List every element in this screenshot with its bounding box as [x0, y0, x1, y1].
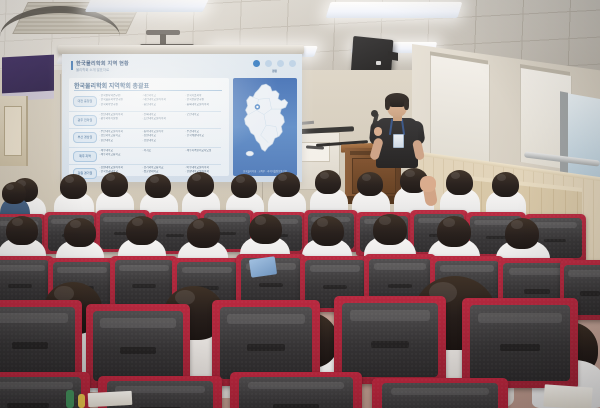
list-item: · 한국해양대학교: [185, 134, 226, 138]
step-label: 전망: [272, 69, 277, 73]
wall-banner: [2, 55, 54, 96]
chair-back-panel: [470, 305, 570, 381]
list-item: · 충남대학교: [142, 103, 183, 107]
audience-head: [249, 214, 282, 244]
row-label-text: 부산 경남권: [74, 135, 96, 139]
row-separator: [69, 128, 221, 129]
row-column: · 전북대학교 · 조선대학교물리학과: [142, 113, 183, 122]
table-row: 제주 지역 · 제주대학교 · 제주과학고등학교 · 서귀포 · 제주지역물리교…: [73, 149, 225, 164]
presenter-hair-side: [404, 99, 409, 110]
chair[interactable]: [372, 378, 508, 408]
slide-heading: 한국물리학회 지역학회 총괄표: [74, 81, 149, 90]
chair-back-panel: [115, 260, 173, 305]
step-dot: 현황: [265, 60, 272, 67]
audience-head: [357, 172, 383, 196]
row-column: · 군산대학교: [185, 113, 226, 117]
chair-back-panel: [382, 383, 499, 408]
chair[interactable]: [462, 298, 578, 388]
audience-head: [437, 216, 471, 247]
pen: [78, 394, 85, 408]
lecture-hall-photo: 한국물리학회 지역 현황 물리학회 소개 발표자료 소개 현황 활동 전망 한국…: [0, 0, 600, 408]
slide-map-panel: 한국물리학회 · 교육부 · 과학기술정보통신부: [233, 78, 297, 176]
microphone-head-icon: [371, 110, 378, 117]
projection-screen: 한국물리학회 지역 현황 물리학회 소개 발표자료 소개 현황 활동 전망 한국…: [62, 54, 302, 182]
pen: [66, 390, 74, 408]
ceiling-light-panel: [85, 0, 210, 12]
wall-seam: [60, 74, 61, 194]
row-column: · 서귀포: [142, 149, 183, 153]
slide-title: 한국물리학회 지역 현황: [76, 60, 129, 67]
table-row: 대전 충청권 · 한국원자력연구원 · 한국표준과학연구원 · 한국화학연구원 …: [73, 94, 225, 109]
row-column: · 대전과학고 · 대전대학교물리학과 · 충남대학교: [142, 94, 183, 107]
list-item: · 광주과학기술원: [99, 117, 140, 121]
slide-title-accent: [71, 61, 73, 70]
row-column: · 동아대학교물리학 · 창원대학교 · 경상대학교: [142, 130, 183, 143]
slide-heading-underline: [74, 90, 222, 91]
row-separator: [69, 111, 221, 112]
handout-booklet: [249, 256, 277, 277]
slide-step-indicator: 소개 현황 활동 전망: [253, 60, 296, 67]
audience-head: [231, 174, 257, 198]
slide-table: 한국물리학회 지역학회 총괄표 대전 충청권 · 한국원자력연구원 · 한국표준…: [69, 78, 229, 176]
row-column: · 전남대학교물리학과 · 광주과학기술원: [99, 113, 140, 122]
audience-head: [126, 216, 158, 245]
audience-head: [492, 172, 519, 197]
audience-head: [505, 218, 539, 249]
slide-title-block: 한국물리학회 지역 현황 물리학회 소개 발표자료: [71, 60, 221, 73]
side-cabinet-panel: [4, 106, 22, 156]
list-item: · 조선대학교물리학과: [142, 117, 183, 121]
chair[interactable]: [334, 296, 446, 384]
audience-head: [101, 172, 128, 197]
chair-back-panel: [93, 311, 182, 382]
audience-head: [187, 218, 220, 248]
notebook: [88, 391, 133, 407]
row-column: · 한국원자력연구원 · 한국표준과학연구원 · 한국화학연구원: [99, 94, 140, 107]
row-separator: [69, 164, 221, 165]
list-item: · 서귀포: [142, 149, 183, 153]
raised-hand-palm: [420, 176, 436, 192]
step-dot: 활동: [277, 60, 284, 67]
chair-back-panel: [0, 260, 49, 305]
chair[interactable]: [0, 372, 90, 408]
row-label: 제주 지역: [73, 151, 97, 162]
step-dot: 소개: [253, 60, 260, 67]
speaker-bracket: [388, 51, 398, 61]
presenter-hair-side: [385, 99, 390, 110]
audience-head: [311, 216, 344, 246]
chair[interactable]: [230, 372, 362, 408]
list-item: · 경상대학교: [142, 139, 183, 143]
row-column: · 제주대학교 · 제주과학고등학교: [99, 149, 140, 158]
row-column: · 부산대학교물리학과 · 경남과학고등학교 · 울산대학교: [99, 130, 140, 143]
row-column: · 제주지역물리교사모임: [185, 149, 226, 153]
chair-back-panel: [220, 307, 313, 379]
audience-head: [6, 216, 38, 245]
row-separator: [69, 147, 221, 148]
list-item: · 한국화학연구원: [99, 103, 140, 107]
row-column: · 한국기초과학 · 한국천문연구원 · 충북대학교물리학과: [185, 94, 226, 107]
list-item: · 군산대학교: [185, 113, 226, 117]
step-dot: 전망: [289, 60, 296, 67]
korea-map-icon: [237, 83, 293, 159]
screen-housing[interactable]: [58, 45, 304, 54]
row-label: 부산 경남권: [73, 132, 97, 143]
chair-back-panel: [0, 307, 75, 376]
row-column: · 부경대학교 · 한국해양대학교: [185, 130, 226, 139]
table-row: 광주 전라권 · 전남대학교물리학과 · 광주과학기술원 · 전북대학교 · 조…: [73, 113, 225, 128]
row-label: 광주 전라권: [73, 115, 97, 126]
row-column: · 경기과학고등학교 · 성균관대학교: [142, 166, 183, 175]
row-label-text: 광주 전라권: [74, 118, 96, 122]
audience-head: [273, 172, 300, 197]
chair-back-panel: [239, 377, 353, 408]
chair[interactable]: [0, 300, 82, 382]
list-item: · 울산대학교: [99, 139, 140, 143]
handout: [543, 384, 592, 408]
id-badge: [393, 134, 404, 148]
row-label-text: 제주 지역: [74, 154, 96, 158]
ceiling-light-panel: [326, 2, 463, 18]
window-blind[interactable]: [430, 55, 490, 163]
audience-head: [315, 170, 341, 194]
slide-subtitle: 물리학회 소개 발표자료: [76, 67, 109, 72]
audience-head: [187, 172, 214, 197]
row-label-text: 대전 충청권: [74, 99, 96, 103]
audience-head: [373, 214, 407, 245]
list-item: · 제주지역물리교사모임: [185, 149, 226, 153]
presenter-hand: [374, 127, 382, 136]
audience-head: [145, 174, 171, 198]
audience-head: [60, 174, 87, 199]
audience-head: [64, 218, 96, 247]
row-label: 대전 충청권: [73, 96, 97, 107]
list-item: · 충북대학교물리학과: [185, 103, 226, 107]
audience-head: [446, 170, 473, 195]
list-item: · 제주과학고등학교: [99, 153, 140, 157]
table-row: 부산 경남권 · 부산대학교물리학과 · 경남과학고등학교 · 울산대학교 · …: [73, 130, 225, 145]
speaker-indicator: [376, 61, 381, 65]
audience-head: [2, 182, 26, 204]
chair-back-panel: [342, 303, 438, 377]
